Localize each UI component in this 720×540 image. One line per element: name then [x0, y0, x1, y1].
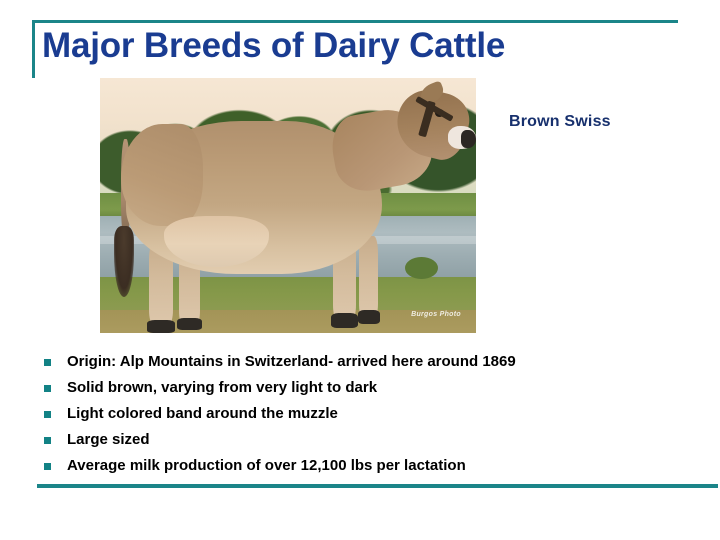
square-bullet-icon — [44, 437, 51, 444]
cow-tail-switch — [114, 226, 135, 297]
list-item: Light colored band around the muzzle — [44, 404, 684, 430]
cow-rump — [121, 124, 204, 226]
breed-photo: Burgos Photo — [100, 78, 476, 333]
cow-nose — [461, 130, 476, 148]
title-left-rule — [32, 20, 35, 78]
square-bullet-icon — [44, 463, 51, 470]
cow-hoof-hind-left — [177, 318, 201, 331]
title-top-rule — [32, 20, 678, 23]
bullet-text: Light colored band around the muzzle — [67, 404, 338, 424]
square-bullet-icon — [44, 411, 51, 418]
list-item: Origin: Alp Mountains in Switzerland- ar… — [44, 352, 684, 378]
bullet-text: Average milk production of over 12,100 l… — [67, 456, 466, 476]
photo-watermark: Burgos Photo — [411, 311, 461, 318]
bullet-list: Origin: Alp Mountains in Switzerland- ar… — [44, 352, 684, 482]
list-item: Large sized — [44, 430, 684, 456]
bullet-text: Large sized — [67, 430, 150, 450]
bullet-text: Solid brown, varying from very light to … — [67, 378, 377, 398]
cow-hoof-front-left — [358, 310, 381, 324]
content-bottom-rule — [37, 484, 718, 488]
square-bullet-icon — [44, 359, 51, 366]
list-item: Average milk production of over 12,100 l… — [44, 456, 684, 482]
slide: Major Breeds of Dairy Cattle Brown Swiss — [0, 0, 720, 540]
breed-caption: Brown Swiss — [509, 113, 611, 131]
page-title: Major Breeds of Dairy Cattle — [42, 26, 662, 66]
list-item: Solid brown, varying from very light to … — [44, 378, 684, 404]
cow-hoof-front-right — [331, 313, 357, 328]
cow-hoof-hind-right — [147, 320, 175, 333]
bullet-text: Origin: Alp Mountains in Switzerland- ar… — [67, 352, 516, 372]
square-bullet-icon — [44, 385, 51, 392]
photo-scene: Burgos Photo — [100, 78, 476, 333]
cow-figure — [100, 78, 476, 333]
cow-front-leg-left — [359, 236, 378, 318]
